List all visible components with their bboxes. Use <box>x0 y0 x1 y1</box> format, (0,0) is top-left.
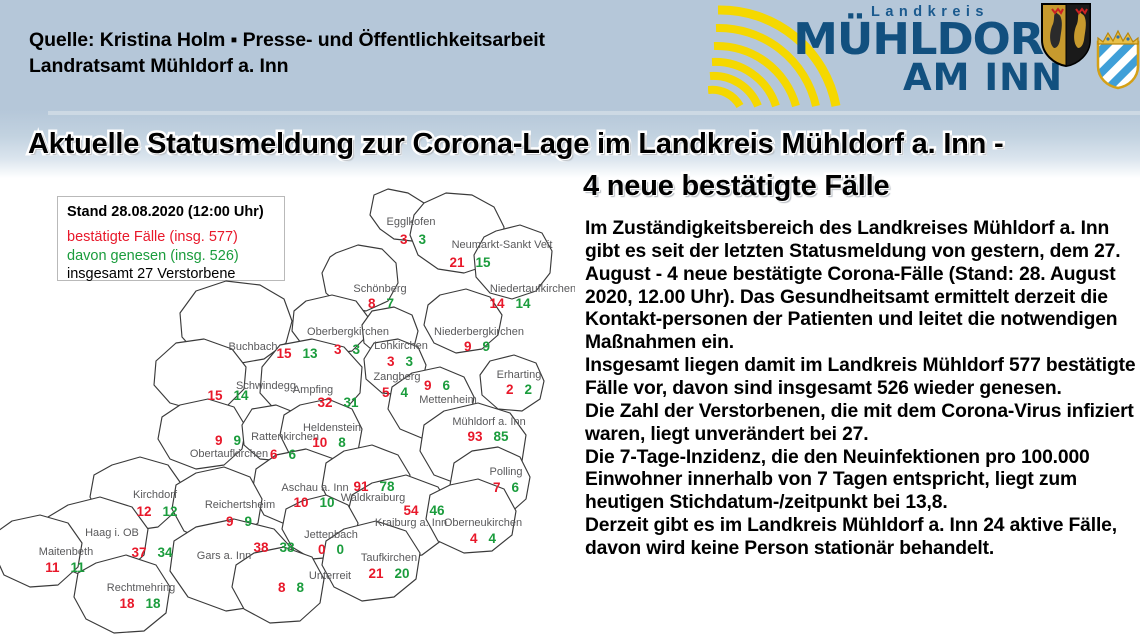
map-region-label: Niedertaufkirchen <box>490 283 575 295</box>
confirmed-count: 7 <box>493 480 501 495</box>
source-credit: Quelle: Kristina Holm ▪ Presse- und Öffe… <box>29 28 749 80</box>
map-region-label: Unterreit <box>309 570 351 582</box>
map-region-values: 2115 <box>449 255 490 270</box>
recovered-count: 18 <box>146 596 161 611</box>
recovered-count: 2 <box>525 382 533 397</box>
coat-of-arms-bavaria-icon <box>1095 28 1140 90</box>
confirmed-count: 9 <box>226 514 234 529</box>
recovered-count: 9 <box>245 514 253 529</box>
recovered-count: 11 <box>71 560 85 575</box>
confirmed-count: 9 <box>215 433 223 448</box>
recovered-count: 13 <box>303 346 318 361</box>
page-title-line-2: 4 neue bestätigte Fälle <box>583 170 889 203</box>
recovered-count: 15 <box>476 255 491 270</box>
map-region-label: Buchbach <box>229 341 278 353</box>
recovered-count: 10 <box>320 495 335 510</box>
map-region-values: 1212 <box>136 504 177 519</box>
map-region-values: 96 <box>424 378 450 393</box>
map-region-label: Gars a. Inn <box>197 550 251 562</box>
map-region-values: 87 <box>368 296 394 311</box>
coat-of-arms-mühldorf-icon <box>1040 2 1092 68</box>
map-region-label: Aschau a. Inn <box>281 482 348 494</box>
recovered-count: 7 <box>387 296 395 311</box>
map-region-values: 1010 <box>293 495 334 510</box>
map-region-values: 5446 <box>403 503 444 518</box>
confirmed-count: 4 <box>470 531 478 546</box>
recovered-count: 0 <box>337 542 345 557</box>
recovered-count: 3 <box>419 232 427 247</box>
recovered-count: 38 <box>280 540 295 555</box>
recovered-count: 3 <box>406 354 414 369</box>
confirmed-count: 6 <box>270 447 278 462</box>
confirmed-count: 3 <box>400 232 408 247</box>
confirmed-count: 15 <box>276 346 291 361</box>
map-region-values: 66 <box>270 447 296 462</box>
recovered-count: 14 <box>234 388 249 403</box>
confirmed-count: 2 <box>506 382 514 397</box>
map-region-label: Taufkirchen <box>361 552 417 564</box>
recovered-count: 46 <box>430 503 445 518</box>
recovered-count: 4 <box>489 531 497 546</box>
confirmed-count: 38 <box>253 540 268 555</box>
status-paragraph: Im Zuständigkeitsbereich des Landkreises… <box>585 218 1137 355</box>
map-region-values: 9385 <box>467 429 508 444</box>
recovered-count: 4 <box>401 385 409 400</box>
confirmed-count: 10 <box>293 495 308 510</box>
confirmed-count: 21 <box>449 255 464 270</box>
recovered-count: 8 <box>338 435 346 450</box>
map-region-values: 76 <box>493 480 519 495</box>
map-region-label: Reichertsheim <box>205 499 275 511</box>
map-region-values: 00 <box>318 542 344 557</box>
map-region-values: 3838 <box>253 540 294 555</box>
confirmed-count: 91 <box>353 479 368 494</box>
confirmed-count: 8 <box>278 580 286 595</box>
map-region-label: Schönberg <box>353 283 406 295</box>
page-title-line-1: Aktuelle Statusmeldung zur Corona-Lage i… <box>28 128 1004 161</box>
map-region-label: Mühldorf a. Inn <box>452 416 525 428</box>
map-region-values: 33 <box>334 342 360 357</box>
map-region-values: 9178 <box>353 479 394 494</box>
map-region-values: 1514 <box>207 388 248 403</box>
map-region-values: 1111 <box>45 560 85 575</box>
map-region-values: 44 <box>470 531 496 546</box>
map-region-values: 33 <box>400 232 426 247</box>
confirmed-count: 3 <box>334 342 342 357</box>
map-region-label: Oberneukirchen <box>444 517 522 529</box>
map-region-values: 1818 <box>119 596 160 611</box>
map-region-values: 108 <box>312 435 346 450</box>
map-region-label: Neumarkt-Sankt Veit <box>452 239 553 251</box>
confirmed-count: 54 <box>403 503 418 518</box>
status-report-text: Im Zuständigkeitsbereich des Landkreises… <box>585 218 1137 561</box>
map-region-values: 99 <box>215 433 241 448</box>
recovered-count: 34 <box>158 545 173 560</box>
map-region-values: 99 <box>464 339 490 354</box>
map-region-label: Egglkofen <box>387 216 436 228</box>
map-region-label: Rechtmehring <box>107 582 175 594</box>
confirmed-count: 32 <box>317 395 332 410</box>
map-region-label: Polling <box>489 466 522 478</box>
recovered-count: 14 <box>516 296 531 311</box>
recovered-count: 20 <box>395 566 410 581</box>
recovered-count: 6 <box>512 480 520 495</box>
status-paragraph: Derzeit gibt es im Landkreis Mühldorf a.… <box>585 515 1137 561</box>
map-region-label: Mettenheim <box>419 394 476 406</box>
map-region-values: 33 <box>387 354 413 369</box>
source-line-2: Landratsamt Mühldorf a. Inn <box>29 54 749 80</box>
confirmed-count: 93 <box>467 429 482 444</box>
confirmed-count: 12 <box>136 504 151 519</box>
page-header: Quelle: Kristina Holm ▪ Presse- und Öffe… <box>0 0 1140 110</box>
map-region-label: Zangberg <box>373 371 420 383</box>
confirmed-count: 37 <box>131 545 146 560</box>
recovered-count: 8 <box>297 580 305 595</box>
recovered-count: 3 <box>353 342 361 357</box>
map-region-values: 22 <box>506 382 532 397</box>
map-region-values: 3231 <box>317 395 358 410</box>
map-region-label: Haag i. OB <box>85 527 139 539</box>
map-region-values: 1513 <box>276 346 317 361</box>
recovered-count: 9 <box>234 433 242 448</box>
map-region-label: Jettenbach <box>304 529 358 541</box>
recovered-count: 78 <box>380 479 395 494</box>
confirmed-count: 9 <box>464 339 472 354</box>
map-region-values: 1414 <box>489 296 530 311</box>
confirmed-count: 21 <box>368 566 383 581</box>
map-region-label: Erharting <box>497 369 542 381</box>
map-region-label: Heldenstein <box>303 422 361 434</box>
map-region-values: 2120 <box>368 566 409 581</box>
confirmed-count: 14 <box>489 296 504 311</box>
map-region-values: 88 <box>278 580 304 595</box>
confirmed-count: 9 <box>424 378 432 393</box>
source-line-1: Quelle: Kristina Holm ▪ Presse- und Öffe… <box>29 28 749 54</box>
confirmed-count: 3 <box>387 354 395 369</box>
map-region-values: 99 <box>226 514 252 529</box>
map-region-label: Obertaufkirchen <box>190 448 268 460</box>
status-paragraph: Die Zahl der Verstorbenen, die mit dem C… <box>585 401 1137 447</box>
recovered-count: 31 <box>344 395 359 410</box>
map-region-values: 3734 <box>131 545 172 560</box>
confirmed-count: 0 <box>318 542 326 557</box>
confirmed-count: 8 <box>368 296 376 311</box>
confirmed-count: 11 <box>45 560 59 575</box>
confirmed-count: 15 <box>207 388 222 403</box>
recovered-count: 6 <box>289 447 297 462</box>
map-region-label: Oberbergkirchen <box>307 326 389 338</box>
map-region-values: 54 <box>382 385 408 400</box>
status-paragraph: Die 7-Tage-Inzidenz, die den Neuinfektio… <box>585 447 1137 516</box>
map-region-label: Kirchdorf <box>133 489 177 501</box>
map-region-label: Niederbergkirchen <box>434 326 524 338</box>
map-region-label: Lohkirchen <box>374 340 428 352</box>
map-outline-svg <box>0 183 575 641</box>
map-region-label: Maitenbeth <box>39 546 93 558</box>
confirmed-count: 18 <box>119 596 134 611</box>
map-region-label: Kraiburg a. Inn <box>375 517 447 529</box>
recovered-count: 85 <box>494 429 509 444</box>
recovered-count: 12 <box>163 504 178 519</box>
banner-top-rule <box>48 111 1140 115</box>
confirmed-count: 10 <box>312 435 327 450</box>
district-map: Egglkofen33Neumarkt-Sankt Veit2115Schönb… <box>0 183 575 641</box>
recovered-count: 9 <box>483 339 491 354</box>
confirmed-count: 5 <box>382 385 390 400</box>
status-paragraph: Insgesamt liegen damit im Landkreis Mühl… <box>585 355 1137 401</box>
landkreis-logo: Landkreis MÜHLDORF AM INN <box>768 0 1140 110</box>
recovered-count: 6 <box>443 378 451 393</box>
